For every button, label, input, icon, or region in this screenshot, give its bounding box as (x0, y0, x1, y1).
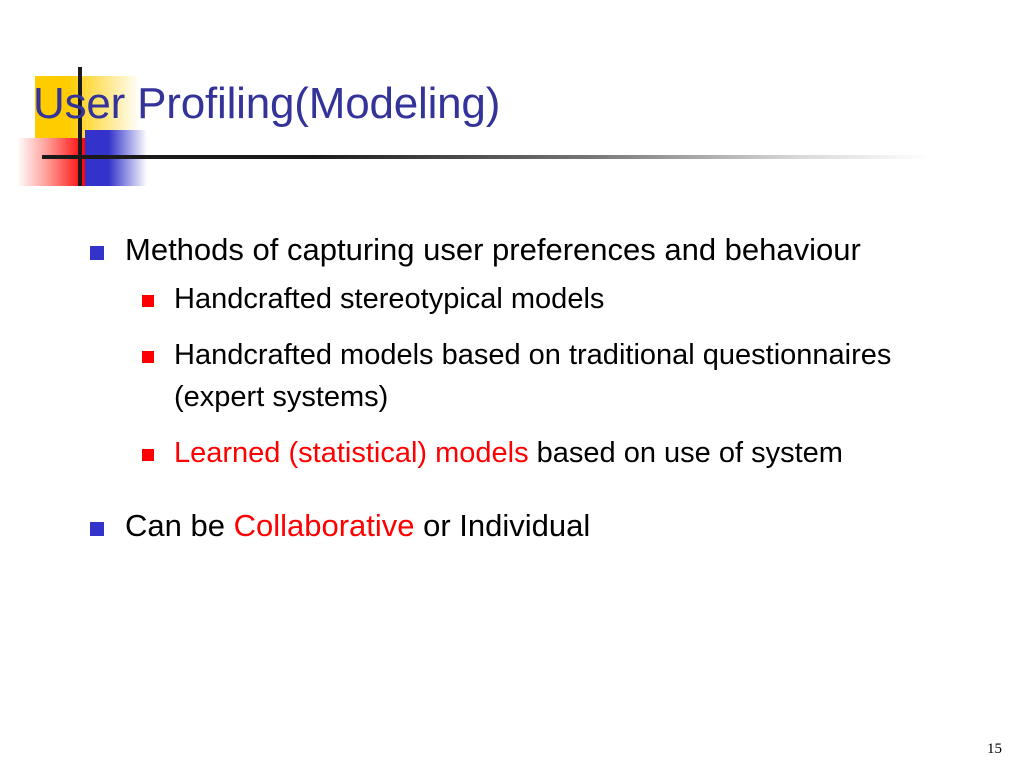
slide-canvas: User Profiling(Modeling) Methods of capt… (0, 0, 1024, 768)
bullet-text: based on use of system (529, 437, 843, 469)
bullet-item-level1: Methods of capturing user preferences an… (0, 228, 1024, 272)
slide-title: User Profiling(Modeling) (33, 76, 963, 132)
bullet-item-level2: Handcrafted stereotypical models (0, 278, 1024, 320)
bullet-item-level2: Learned (statistical) models based on us… (0, 432, 1024, 474)
bullet-text: Methods of capturing user preferences an… (125, 232, 861, 267)
bullet-text: Handcrafted models based on traditional … (174, 339, 891, 413)
bullet-text-highlight: Collaborative (234, 508, 415, 543)
blue-square-bullet-icon (90, 522, 104, 536)
bullet-text-prefix: Can be (125, 508, 234, 543)
body-spacer (0, 488, 1024, 504)
red-square-bullet-icon (142, 295, 154, 307)
horizontal-fading-rule-icon (42, 155, 930, 159)
slide-body: Methods of capturing user preferences an… (0, 228, 1024, 550)
page-number: 15 (987, 741, 1002, 758)
blue-square-bullet-icon (90, 246, 104, 260)
red-square-bullet-icon (142, 351, 154, 363)
blue-gradient-square-icon (85, 130, 147, 186)
red-gradient-square-icon (17, 138, 86, 186)
red-square-bullet-icon (142, 449, 154, 461)
bullet-text-highlight: Learned (statistical) models (174, 437, 529, 469)
sub-bullet-group: Handcrafted stereotypical models Handcra… (0, 278, 1024, 474)
bullet-text: or Individual (415, 508, 591, 543)
bullet-text: Handcrafted stereotypical models (174, 283, 604, 315)
bullet-item-level1: Can be Collaborative or Individual (0, 504, 1024, 548)
bullet-item-level2: Handcrafted models based on traditional … (0, 334, 1024, 418)
